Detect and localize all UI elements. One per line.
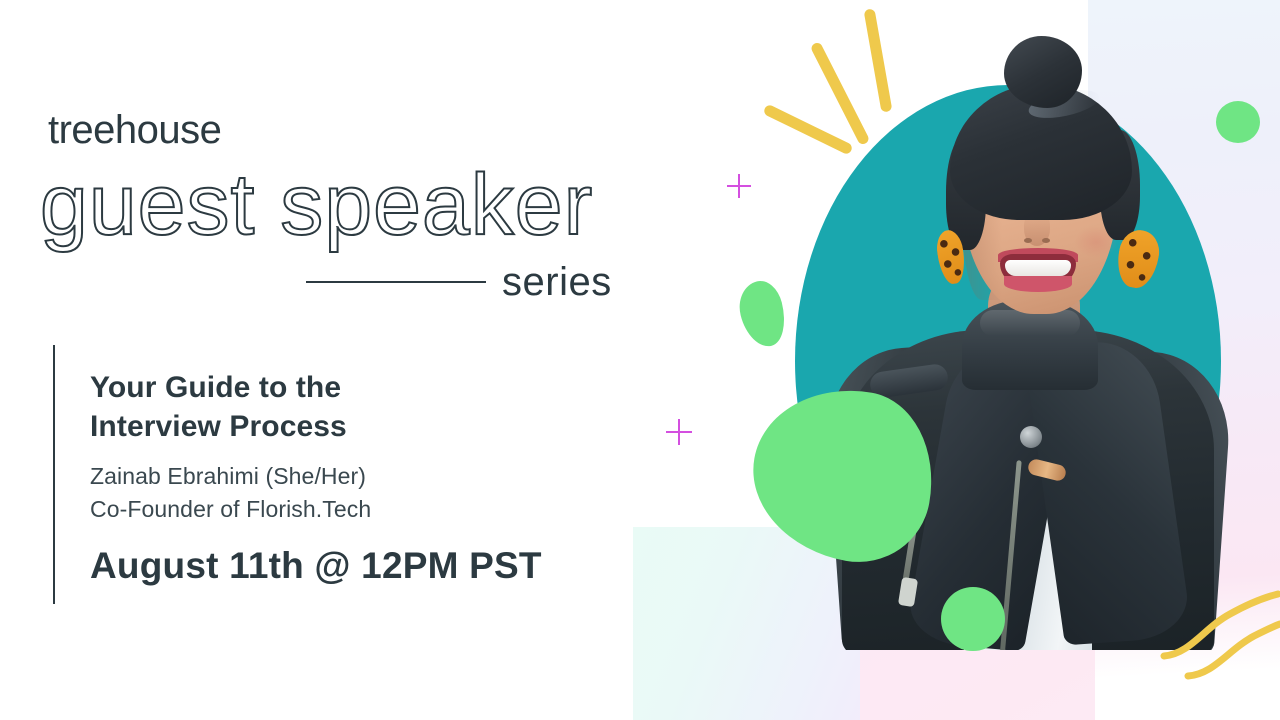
series-row: series (306, 258, 626, 306)
brand-wordmark: treehouse (48, 108, 221, 153)
headline-outline-text: guest speaker (40, 160, 593, 250)
talk-title-line-1: Your Guide to the (90, 371, 341, 404)
talk-title-line-2: Interview Process (90, 410, 347, 443)
yellow-wavy-lines (1160, 580, 1280, 690)
talk-info-block: Your Guide to the Interview Process Zain… (90, 368, 610, 587)
series-label: series (502, 260, 612, 305)
vertical-accent-rule (53, 345, 55, 604)
series-divider-rule (306, 281, 486, 283)
event-date-time: August 11th @ 12PM PST (90, 545, 610, 587)
lower-lip (1004, 276, 1072, 292)
speaker-role: Co-Founder of Florish.Tech (90, 493, 610, 526)
green-blob-small (734, 277, 792, 351)
speaker-name: Zainab Ebrahimi (She/Her) (90, 460, 610, 493)
talk-title: Your Guide to the Interview Process (90, 368, 610, 446)
guest-speaker-promo-slide: treehouse guest speaker series Your Guid… (0, 0, 1280, 720)
magenta-plus-mark-1 (727, 174, 751, 198)
jacket-snap-button (1020, 426, 1042, 448)
nostril-left (1024, 238, 1032, 243)
green-circle-bottom (941, 587, 1005, 651)
magenta-plus-mark-2 (666, 419, 692, 445)
nostril-right (1042, 238, 1050, 243)
teeth (1005, 260, 1071, 276)
hair-top-bun (1004, 36, 1082, 108)
